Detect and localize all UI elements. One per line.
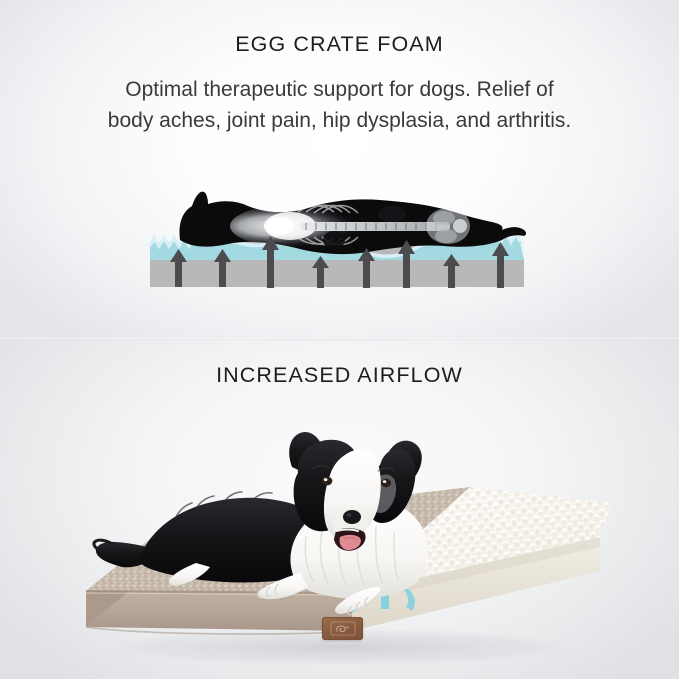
support-arrow [492,242,509,288]
brand-logo-tag [322,617,363,640]
page-title-egg-crate-foam: EGG CRATE FOAM [0,32,679,57]
section-divider [0,338,679,340]
support-arrow [358,248,375,288]
infographic-page: EGG CRATE FOAM Optimal therapeutic suppo… [0,0,679,679]
support-arrow [398,240,415,288]
dog-xray-silhouette [148,168,531,303]
support-arrow [443,254,460,288]
support-arrow [170,249,187,287]
description-line-1: Optimal therapeutic support for dogs. Re… [34,74,645,105]
section-egg-crate-foam: EGG CRATE FOAM Optimal therapeutic suppo… [0,0,679,339]
page-title-increased-airflow: INCREASED AIRFLOW [0,363,679,388]
foam-cross-section-diagram [148,168,531,303]
description-line-2: body aches, joint pain, hip dysplasia, a… [34,105,645,136]
support-arrow [312,256,329,288]
egg-crate-foam-description: Optimal therapeutic support for dogs. Re… [34,74,645,136]
support-arrow [262,236,279,288]
support-arrow [214,249,231,287]
